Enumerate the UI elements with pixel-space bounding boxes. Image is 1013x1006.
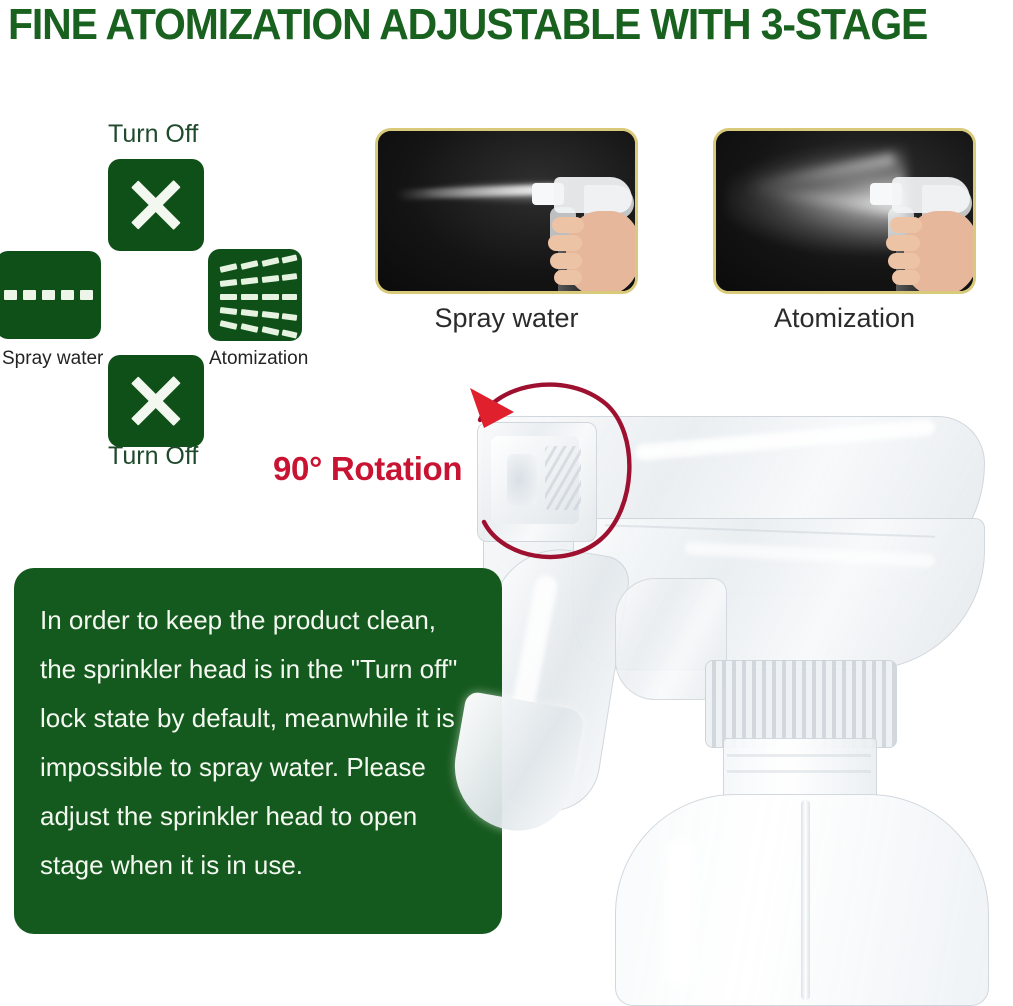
- sprayer-illustration: [528, 167, 638, 294]
- mode-icon-turn-off-bottom[interactable]: [108, 355, 204, 447]
- neck-thread: [727, 770, 871, 773]
- notice-line: stage when it is in use.: [40, 841, 476, 890]
- finger: [554, 270, 582, 285]
- cross-icon: [108, 355, 204, 447]
- rotation-label: 90° Rotation: [273, 450, 462, 488]
- demo-photo-atomization: [713, 128, 976, 294]
- mode-label-top: Turn Off: [108, 120, 198, 149]
- finger: [890, 217, 922, 233]
- mist-fan-icon: [208, 249, 302, 341]
- demo-photo-caption-spray-water: Spray water: [375, 303, 638, 334]
- mode-label-bottom: Turn Off: [108, 442, 198, 471]
- mode-label-right: Atomization: [209, 348, 308, 370]
- ribbed-collar: [705, 660, 897, 748]
- notice-callout: In order to keep the product clean, the …: [14, 568, 502, 934]
- neck-thread: [727, 754, 871, 757]
- sprayer-illustration: [866, 167, 976, 294]
- bottle-highlight: [665, 838, 695, 988]
- rotation-arrow-icon: [440, 360, 660, 570]
- finger: [888, 253, 920, 269]
- dip-tube: [801, 800, 810, 1000]
- demo-photo-spray-water: [375, 128, 638, 294]
- finger: [886, 235, 920, 251]
- mode-label-left: Spray water: [2, 348, 103, 370]
- notice-line: impossible to spray water. Please: [40, 743, 476, 792]
- notice-line: adjust the sprinkler head to open: [40, 792, 476, 841]
- finger: [552, 217, 584, 233]
- notice-line: lock state by default, meanwhile it is: [40, 694, 476, 743]
- page-title: FINE ATOMIZATION ADJUSTABLE WITH 3-STAGE: [8, 2, 929, 48]
- infographic-canvas: FINE ATOMIZATION ADJUSTABLE WITH 3-STAGE…: [0, 0, 1013, 995]
- mode-icon-turn-off-top[interactable]: [108, 159, 204, 251]
- notice-line: In order to keep the product clean,: [40, 596, 476, 645]
- finger: [548, 235, 582, 251]
- finger: [892, 270, 920, 285]
- mode-icon-spray-water[interactable]: [0, 251, 101, 339]
- finger: [550, 253, 582, 269]
- dashed-line-icon: [0, 289, 101, 300]
- cross-icon: [108, 159, 204, 251]
- mode-icon-atomization[interactable]: [208, 249, 302, 341]
- demo-photo-caption-atomization: Atomization: [713, 303, 976, 334]
- notice-line: the sprinkler head is in the "Turn off": [40, 645, 476, 694]
